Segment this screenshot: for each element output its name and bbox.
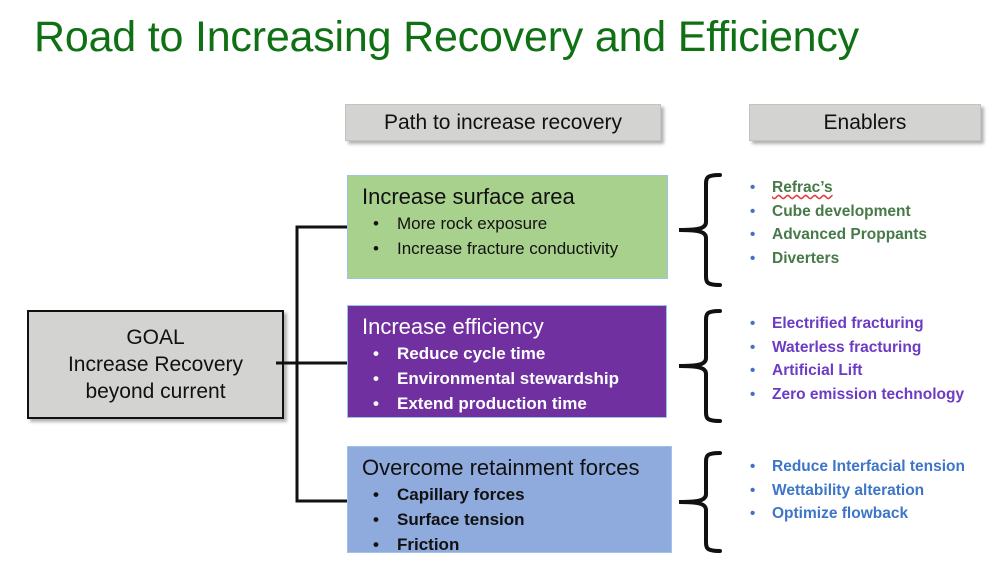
bullet-icon: •	[373, 211, 379, 236]
list-item: •Extend production time	[348, 391, 666, 416]
bullet-icon: •	[373, 482, 379, 507]
list-item: •Surface tension	[348, 507, 671, 532]
bullet-icon: •	[373, 341, 379, 366]
list-item-label: Optimize flowback	[772, 505, 908, 522]
bullet-icon: •	[750, 455, 755, 479]
list-item: •Increase fracture conductivity	[348, 236, 667, 261]
path-box-title: Increase surface area	[348, 182, 667, 211]
list-item: •Zero emission technology	[742, 383, 964, 407]
list-item: •Environmental stewardship	[348, 366, 666, 391]
bullet-icon: •	[750, 247, 755, 271]
bullet-icon: •	[750, 479, 755, 503]
bullet-icon: •	[750, 312, 755, 336]
page-title: Road to Increasing Recovery and Efficien…	[34, 10, 964, 64]
bullet-icon: •	[750, 502, 755, 526]
list-item-label: Capillary forces	[397, 485, 525, 504]
curly-brace-icon-2	[676, 308, 722, 424]
list-item: •Capillary forces	[348, 482, 671, 507]
list-item-label: Reduce Interfacial tension	[772, 458, 965, 475]
list-item: •Reduce Interfacial tension	[742, 455, 965, 479]
list-item-label: More rock exposure	[397, 214, 547, 233]
goal-line-2: Increase Recovery	[68, 351, 243, 378]
path-box-increase-surface-area: Increase surface area •More rock exposur…	[347, 175, 668, 279]
bullet-icon: •	[750, 336, 755, 360]
enabler-list: •Electrified fracturing •Waterless fract…	[742, 312, 964, 406]
curly-brace-icon-1	[676, 172, 722, 288]
bullet-icon: •	[373, 391, 379, 416]
enabler-list: •Refrac’s •Cube development •Advanced Pr…	[742, 176, 927, 270]
list-item: •Diverters	[742, 247, 927, 271]
enabler-group-surface-area: •Refrac’s •Cube development •Advanced Pr…	[742, 176, 927, 270]
list-item-label: Wettability alteration	[772, 482, 924, 499]
column-header-path-label: Path to increase recovery	[384, 111, 622, 135]
list-item-label: Waterless fracturing	[772, 339, 921, 356]
path-box-bullet-list: •Reduce cycle time •Environmental stewar…	[348, 341, 666, 416]
bullet-icon: •	[373, 366, 379, 391]
connector-tree	[276, 215, 356, 515]
slide-canvas: Road to Increasing Recovery and Efficien…	[0, 0, 1000, 572]
list-item: •Advanced Proppants	[742, 223, 927, 247]
curly-brace-icon-3	[676, 450, 722, 554]
list-item-label: Refrac’s	[772, 179, 833, 196]
goal-line-1: GOAL	[126, 324, 184, 351]
goal-line-3: beyond current	[85, 378, 225, 405]
enabler-group-efficiency: •Electrified fracturing •Waterless fract…	[742, 312, 964, 406]
list-item: •Waterless fracturing	[742, 336, 964, 360]
enabler-list: •Reduce Interfacial tension •Wettability…	[742, 455, 965, 526]
enabler-group-retainment-forces: •Reduce Interfacial tension •Wettability…	[742, 455, 965, 526]
list-item-label: Environmental stewardship	[397, 369, 619, 388]
list-item: •Cube development	[742, 200, 927, 224]
column-header-enablers: Enablers	[749, 104, 981, 141]
list-item-label: Zero emission technology	[772, 386, 964, 403]
list-item: •Friction	[348, 532, 671, 557]
bullet-icon: •	[750, 383, 755, 407]
bullet-icon: •	[373, 507, 379, 532]
bullet-icon: •	[750, 200, 755, 224]
path-box-title: Increase efficiency	[348, 312, 666, 341]
bullet-icon: •	[750, 223, 755, 247]
list-item: •Artificial Lift	[742, 359, 964, 383]
list-item-label: Surface tension	[397, 510, 525, 529]
list-item-label: Extend production time	[397, 394, 587, 413]
goal-box: GOAL Increase Recovery beyond current	[27, 310, 284, 419]
list-item-label: Diverters	[772, 250, 839, 267]
column-header-path: Path to increase recovery	[345, 104, 661, 141]
path-box-title: Overcome retainment forces	[348, 453, 671, 482]
list-item: •Optimize flowback	[742, 502, 965, 526]
list-item-label: Cube development	[772, 203, 911, 220]
list-item-label: Electrified fracturing	[772, 315, 924, 332]
bullet-icon: •	[373, 532, 379, 557]
list-item: •Reduce cycle time	[348, 341, 666, 366]
path-box-bullet-list: •More rock exposure •Increase fracture c…	[348, 211, 667, 261]
bullet-icon: •	[750, 359, 755, 383]
list-item-label: Advanced Proppants	[772, 226, 927, 243]
path-box-bullet-list: •Capillary forces •Surface tension •Fric…	[348, 482, 671, 557]
bullet-icon: •	[750, 176, 755, 200]
list-item-label: Increase fracture conductivity	[397, 239, 618, 258]
bullet-icon: •	[373, 236, 379, 261]
list-item-label: Friction	[397, 535, 459, 554]
path-box-increase-efficiency: Increase efficiency •Reduce cycle time •…	[347, 305, 667, 418]
list-item: •Wettability alteration	[742, 479, 965, 503]
column-header-enablers-label: Enablers	[824, 111, 907, 135]
path-box-overcome-retainment-forces: Overcome retainment forces •Capillary fo…	[347, 446, 672, 553]
list-item-label: Reduce cycle time	[397, 344, 545, 363]
list-item: •Refrac’s	[742, 176, 927, 200]
list-item-label: Artificial Lift	[772, 362, 862, 379]
list-item: •Electrified fracturing	[742, 312, 964, 336]
list-item: •More rock exposure	[348, 211, 667, 236]
